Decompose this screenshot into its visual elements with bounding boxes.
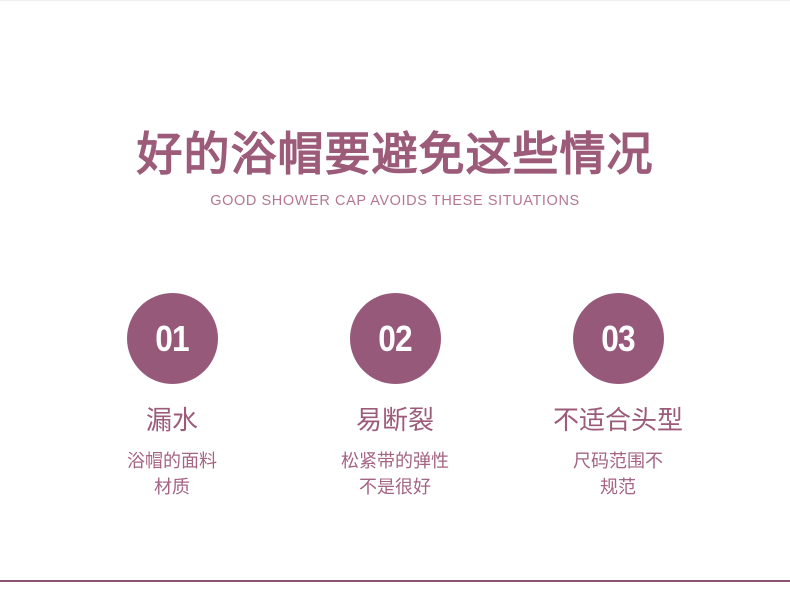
number-badge-02: 02 <box>350 293 441 384</box>
promo-banner: 好的浴帽要避免这些情况 GOOD SHOWER CAP AVOIDS THESE… <box>0 0 790 589</box>
feature-column-01: 01 漏水 浴帽的面料 材质 <box>127 293 218 500</box>
badge-number-label: 03 <box>601 321 634 357</box>
bottom-divider-rule <box>0 580 790 582</box>
feature-heading-03: 不适合头型 <box>553 403 683 437</box>
feature-columns: 01 漏水 浴帽的面料 材质 02 易断裂 松紧带的弹性 不是很好 03 不适合… <box>0 293 790 500</box>
page-subtitle: GOOD SHOWER CAP AVOIDS THESE SITUATIONS <box>0 191 790 211</box>
number-badge-01: 01 <box>127 293 218 384</box>
feature-description-01: 浴帽的面料 材质 <box>97 448 247 500</box>
feature-column-03: 03 不适合头型 尺码范围不 规范 <box>573 293 664 500</box>
feature-heading-02: 易断裂 <box>356 403 434 437</box>
page-title: 好的浴帽要避免这些情况 <box>0 126 790 182</box>
feature-description-02: 松紧带的弹性 不是很好 <box>320 448 470 500</box>
feature-column-02: 02 易断裂 松紧带的弹性 不是很好 <box>350 293 441 500</box>
feature-heading-01: 漏水 <box>146 403 198 437</box>
number-badge-03: 03 <box>573 293 664 384</box>
badge-number-label: 02 <box>378 321 411 357</box>
feature-description-03: 尺码范围不 规范 <box>553 448 683 500</box>
top-hairline-divider <box>0 0 790 1</box>
badge-number-label: 01 <box>155 321 188 357</box>
header-block: 好的浴帽要避免这些情况 GOOD SHOWER CAP AVOIDS THESE… <box>0 126 790 211</box>
